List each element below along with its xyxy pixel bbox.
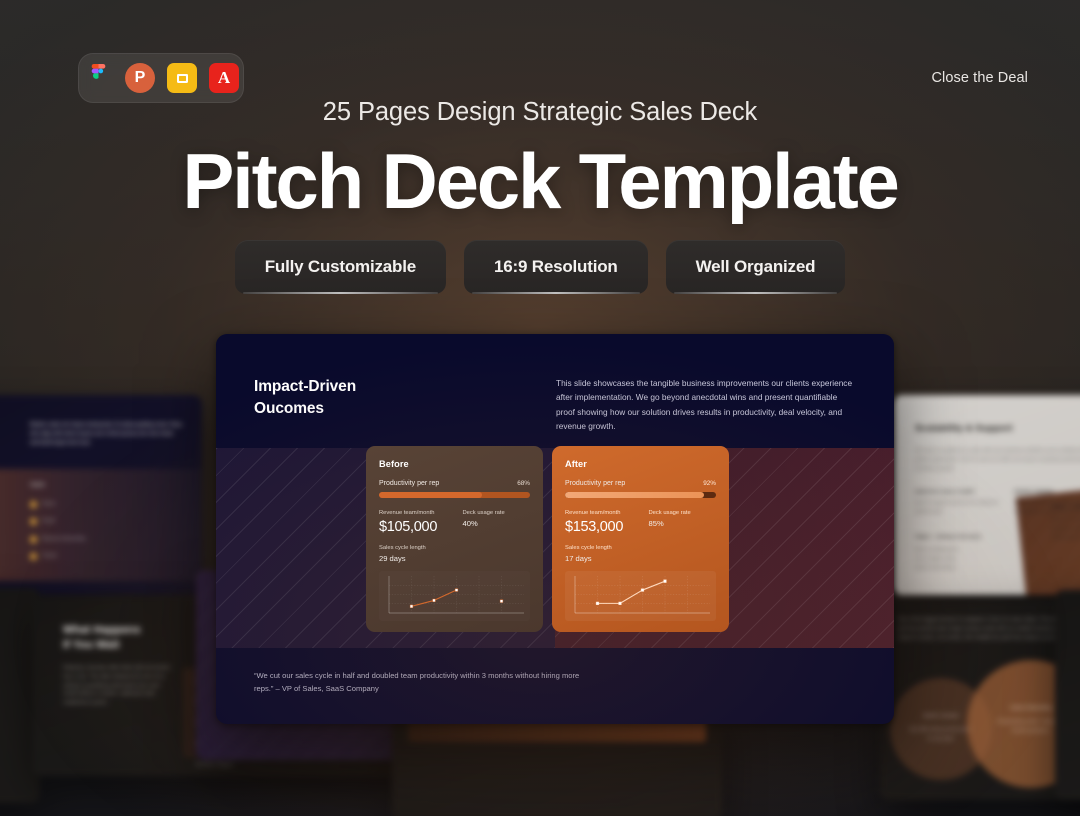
slide-title-line-2: Oucomes xyxy=(254,398,534,420)
card-after-productivity-label: Productivity per rep xyxy=(565,480,625,487)
bg-wait-paragraph: Delaying a decision often feels safe but… xyxy=(63,664,173,709)
stage-1-title: Stage 1 – Startup (1–50 users) xyxy=(915,533,1010,541)
pdf-icon-letter: A xyxy=(218,68,230,88)
slide-description: This slide showcases the tangible busine… xyxy=(556,376,856,433)
stage-item: Core usage setup xyxy=(915,555,1010,564)
figma-icon[interactable] xyxy=(83,63,113,93)
card-after-productivity-pct: 92% xyxy=(703,480,716,487)
progress-fill xyxy=(379,492,482,498)
list-item: Tiered xyxy=(30,552,140,561)
card-before-chart xyxy=(379,571,530,621)
card-before-revenue-value: $105,000 xyxy=(379,519,447,535)
card-before-cycle-label: Sales cycle length xyxy=(379,545,530,551)
card-before-productivity-label: Productivity per rep xyxy=(379,480,439,487)
card-after-deck-usage-label: Deck usage rate xyxy=(649,510,717,516)
page-canvas: Modern sales isn't about closing fast. I… xyxy=(0,0,1080,816)
card-after-cycle: Sales cycle length 17 days xyxy=(565,545,716,563)
card-after-chart xyxy=(565,571,716,621)
list-item-label: Tiered xyxy=(42,552,56,561)
list-item: Manual onboarding xyxy=(30,535,140,544)
bullet-icon xyxy=(30,536,37,543)
card-before-deck-usage: Deck usage rate 40% xyxy=(463,510,531,535)
badge-fully-customizable[interactable]: Fully Customizable xyxy=(235,240,446,294)
list-item: Ticket only xyxy=(0,517,30,526)
card-after-progress-bar xyxy=(565,492,716,498)
card-before-title: Before xyxy=(379,459,530,469)
list-item: Email xyxy=(30,517,140,526)
badge-resolution[interactable]: 16:9 Resolution xyxy=(464,240,648,294)
stage-item: Basic configuration xyxy=(915,546,1010,555)
circle-1-desc: Get 30% off your first month on any plan… xyxy=(906,726,976,744)
card-after-revenue-label: Revenue team/month xyxy=(565,510,633,516)
powerpoint-icon-letter: P xyxy=(135,69,146,87)
bullet-icon xyxy=(30,518,37,525)
card-after-deck-usage: Deck usage rate 85% xyxy=(649,510,717,535)
card-before-productivity-row: Productivity per rep 68% xyxy=(379,480,530,487)
google-slides-icon[interactable] xyxy=(167,63,197,93)
background-slide-scalability-support: Scalability & Support We built our platf… xyxy=(893,395,1080,595)
card-before-deck-usage-value: 40% xyxy=(463,519,531,528)
bullet-icon xyxy=(30,501,37,508)
progress-fill xyxy=(565,492,704,498)
background-slide-fast-results: One of the biggest barriers to adoption … xyxy=(880,600,1080,800)
card-after-title: After xyxy=(565,459,716,469)
close-the-deal-label: Close the Deal xyxy=(931,70,1028,86)
card-before-deck-usage-label: Deck usage rate xyxy=(463,510,531,516)
list-item-label: Home xyxy=(42,500,56,509)
comparison-cards: Before Productivity per rep 68% Revenue … xyxy=(366,446,729,632)
stage-item: CRM system automation xyxy=(1051,534,1080,543)
pdf-icon[interactable]: A xyxy=(209,63,239,93)
app-icons-dock: P A xyxy=(78,53,244,103)
stage-item: Quick onboarding xyxy=(915,564,1010,573)
feature-badges: Fully Customizable 16:9 Resolution Well … xyxy=(0,240,1080,294)
stage-2-title: Stage 2 – Growth (50–500 users) xyxy=(1051,503,1080,511)
list-item-label: Manual onboarding xyxy=(42,535,86,544)
background-slide-comparison-table: Modern sales isn't about closing fast. I… xyxy=(0,395,202,595)
card-after-productivity-row: Productivity per rep 92% xyxy=(565,480,716,487)
bg-table-paragraph: Modern sales isn't about closing fast. I… xyxy=(30,421,182,448)
card-before-cycle-value: 29 days xyxy=(379,554,530,563)
badge-well-organized[interactable]: Well Organized xyxy=(666,240,846,294)
card-before-revenue: Revenue team/month $105,000 xyxy=(379,510,447,535)
slide-header: Impact-Driven Oucomes This slide showcas… xyxy=(254,376,856,433)
bg-scal-title: Scalability & Support xyxy=(915,423,1080,436)
card-after-revenue: Revenue team/month $153,000 xyxy=(565,510,633,535)
list-item: 2 weeks xyxy=(0,535,30,544)
stage-item: Analytics adoption xyxy=(1051,525,1080,534)
list-item: Hidden fees xyxy=(0,552,30,561)
powerpoint-icon[interactable]: P xyxy=(125,63,155,93)
slide-title: Impact-Driven Oucomes xyxy=(254,376,534,433)
card-before-productivity-pct: 68% xyxy=(517,480,530,487)
bg-scal-paragraph: We built our platform to scale with your… xyxy=(915,447,1080,474)
bg-circles-paragraph: One of the biggest barriers to adoption … xyxy=(898,616,1080,643)
card-after-stats: Revenue team/month $153,000 Deck usage r… xyxy=(565,510,716,535)
card-after-deck-usage-value: 85% xyxy=(649,519,717,528)
featured-slide[interactable]: Impact-Driven Oucomes This slide showcas… xyxy=(216,334,894,724)
bg-wait-title-1: What Happens xyxy=(63,623,173,638)
stage-item: Advanced integrations xyxy=(1051,516,1080,525)
list-item-label: Email xyxy=(42,517,55,526)
bg-wait-title-2: If You Wait xyxy=(63,638,173,653)
card-before-cycle: Sales cycle length 29 days xyxy=(379,545,530,563)
card-before-stats: Revenue team/month $105,000 Deck usage r… xyxy=(379,510,530,535)
card-after-cycle-label: Sales cycle length xyxy=(565,545,716,551)
page-title: Pitch Deck Template xyxy=(0,142,1080,220)
circle-1-title: Month 1 Results xyxy=(906,712,976,720)
slide-quote: “We cut our sales cycle in half and doub… xyxy=(254,669,584,696)
list-item: Limited xyxy=(0,500,30,509)
feature-desc: Built to support teams from startup to g… xyxy=(915,499,1002,517)
list-item: Home xyxy=(30,500,140,509)
card-after-revenue-value: $153,000 xyxy=(565,519,633,535)
card-after[interactable]: After Productivity per rep 92% Revenue t… xyxy=(552,446,729,632)
card-before-revenue-label: Revenue team/month xyxy=(379,510,447,516)
feature-title: Works for 5 users or 5,000+ xyxy=(915,488,1002,496)
bg-table-col-a-header: Trait A xyxy=(0,481,30,489)
slide-title-line-1: Impact-Driven xyxy=(254,376,534,398)
bullet-icon xyxy=(30,553,37,560)
card-before[interactable]: Before Productivity per rep 68% Revenue … xyxy=(366,446,543,632)
table-row: Decision Fatigue xyxy=(195,761,373,770)
card-after-cycle-value: 17 days xyxy=(565,554,716,563)
bg-table-col-b-header: Trait B xyxy=(30,481,140,489)
card-before-progress-bar xyxy=(379,492,530,498)
background-slide-right-sliver xyxy=(1055,590,1080,800)
feature-title: Modular Adoption xyxy=(1014,488,1080,496)
hero-kicker: 25 Pages Design Strategic Sales Deck xyxy=(0,98,1080,127)
